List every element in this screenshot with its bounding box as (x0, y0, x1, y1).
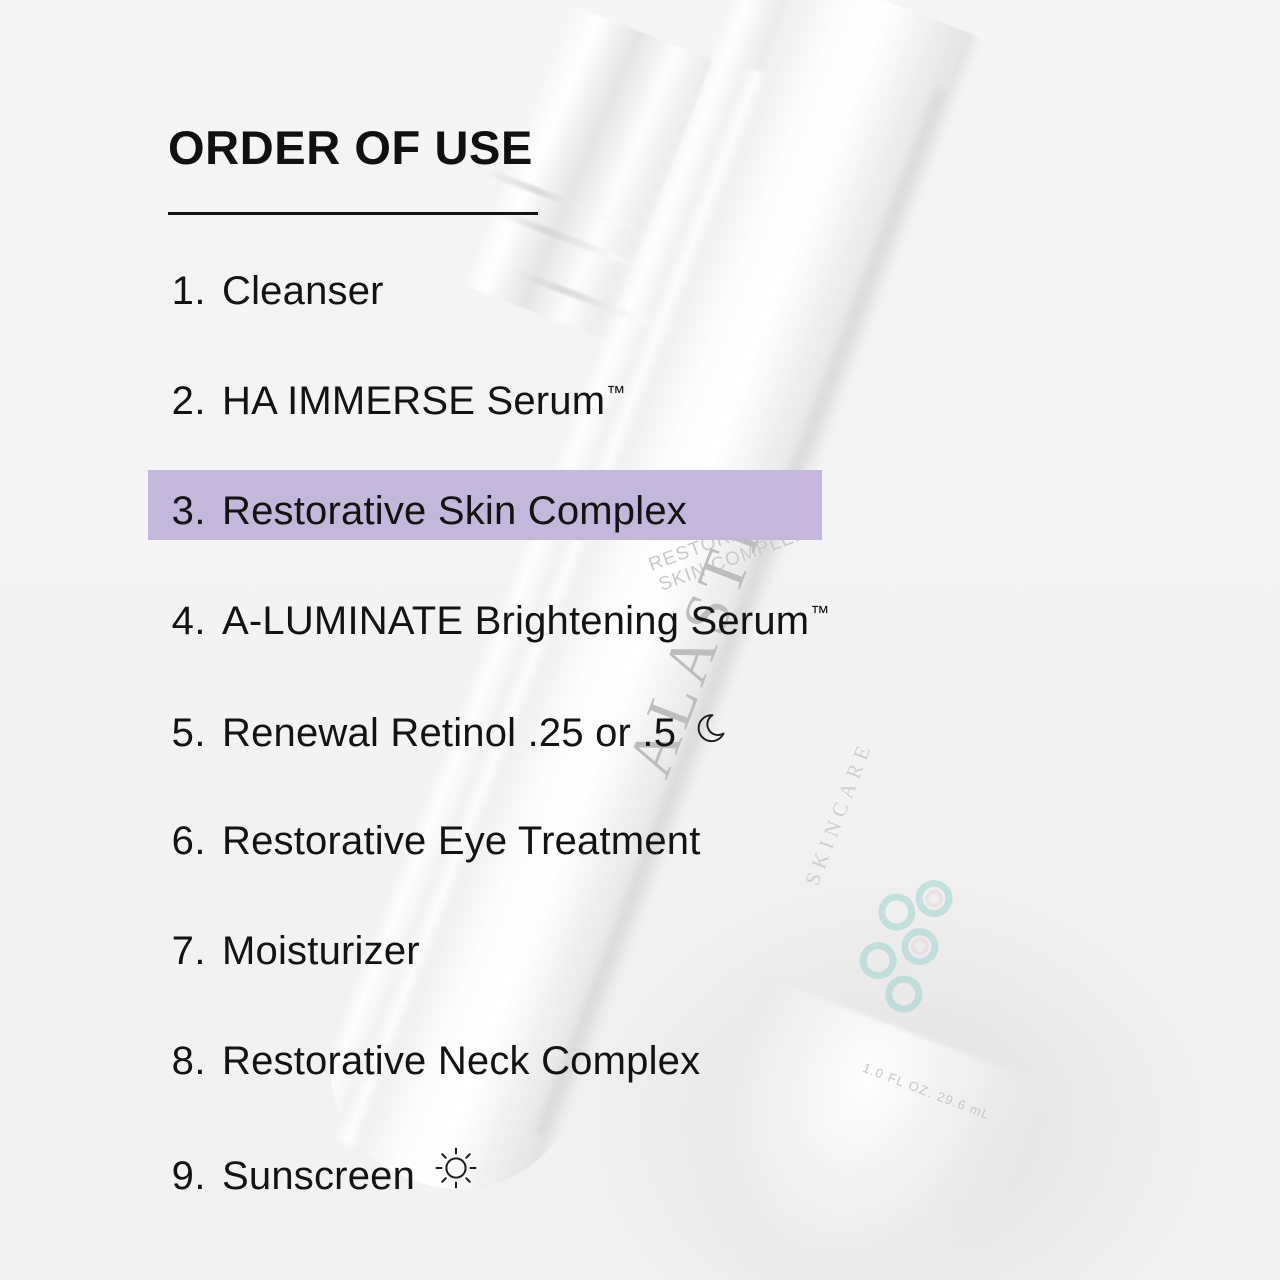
list-item[interactable]: 2.HA IMMERSE Serum™ (0, 346, 1280, 456)
list-item[interactable]: 4.A-LUMINATE Brightening Serum™ (0, 566, 1280, 676)
list-item-label: A-LUMINATE Brightening Serum™ (222, 599, 829, 644)
list-item-content: 3.Restorative Skin Complex (148, 489, 687, 534)
list-item-number: 1. (148, 269, 206, 314)
list-item-number: 4. (148, 599, 206, 644)
trademark-symbol: ™ (606, 383, 625, 404)
list-item-label: Restorative Neck Complex (222, 1039, 700, 1084)
order-of-use-panel: ORDER OF USE 1.Cleanser2.HA IMMERSE Seru… (0, 0, 1280, 1280)
list-item-label: Moisturizer (222, 929, 420, 974)
list-item-label-text: Renewal Retinol .25 or .5 (222, 711, 676, 755)
list-item-label: Cleanser (222, 269, 384, 314)
list-item[interactable]: 6.Restorative Eye Treatment (0, 786, 1280, 896)
list-item-label-text: Restorative Skin Complex (222, 489, 687, 533)
list-item[interactable]: 9.Sunscreen (0, 1116, 1280, 1226)
list-item-label-text: HA IMMERSE Serum (222, 379, 605, 423)
list-item-label-text: Moisturizer (222, 929, 420, 973)
list-item[interactable]: 3.Restorative Skin Complex (0, 456, 1280, 566)
list-item-content: 6.Restorative Eye Treatment (148, 819, 701, 864)
list-item-label: Renewal Retinol .25 or .5 (222, 711, 676, 756)
list-item-number: 3. (148, 489, 206, 534)
list-item-label-text: A-LUMINATE Brightening Serum (222, 599, 809, 643)
list-item-label: HA IMMERSE Serum™ (222, 379, 625, 424)
list-item-label-text: Restorative Neck Complex (222, 1039, 700, 1083)
list-item[interactable]: 1.Cleanser (0, 236, 1280, 346)
list-item-content: 4.A-LUMINATE Brightening Serum™ (148, 599, 829, 644)
list-item-number: 5. (148, 711, 206, 756)
moon-icon (694, 708, 734, 748)
moon-icon-wrapper (694, 708, 734, 748)
list-item-label-text: Cleanser (222, 269, 384, 313)
list-item-number: 7. (148, 929, 206, 974)
list-item-label: Restorative Eye Treatment (222, 819, 701, 864)
list-item-label-text: Sunscreen (222, 1154, 415, 1198)
list-item-content: 8.Restorative Neck Complex (148, 1039, 700, 1084)
list-item-content: 7.Moisturizer (148, 929, 420, 974)
list-item-label: Restorative Skin Complex (222, 489, 687, 534)
title-divider (168, 212, 538, 215)
list-item-content: 9.Sunscreen (148, 1143, 479, 1199)
list-item-content: 1.Cleanser (148, 269, 384, 314)
list-item-number: 2. (148, 379, 206, 424)
list-item[interactable]: 8.Restorative Neck Complex (0, 1006, 1280, 1116)
list-item-label: Sunscreen (222, 1154, 415, 1199)
list-item-content: 5.Renewal Retinol .25 or .5 (148, 706, 734, 756)
list-item-number: 8. (148, 1039, 206, 1084)
list-item-content: 2.HA IMMERSE Serum™ (148, 379, 625, 424)
list-item[interactable]: 5.Renewal Retinol .25 or .5 (0, 676, 1280, 786)
list-item-number: 9. (148, 1154, 206, 1199)
sun-icon-wrapper (433, 1145, 479, 1191)
order-of-use-list: 1.Cleanser2.HA IMMERSE Serum™3.Restorati… (0, 236, 1280, 1226)
list-item-number: 6. (148, 819, 206, 864)
trademark-symbol: ™ (810, 603, 829, 624)
list-item[interactable]: 7.Moisturizer (0, 896, 1280, 1006)
list-item-label-text: Restorative Eye Treatment (222, 819, 701, 863)
sun-icon (433, 1145, 479, 1191)
page-title: ORDER OF USE (168, 124, 533, 171)
